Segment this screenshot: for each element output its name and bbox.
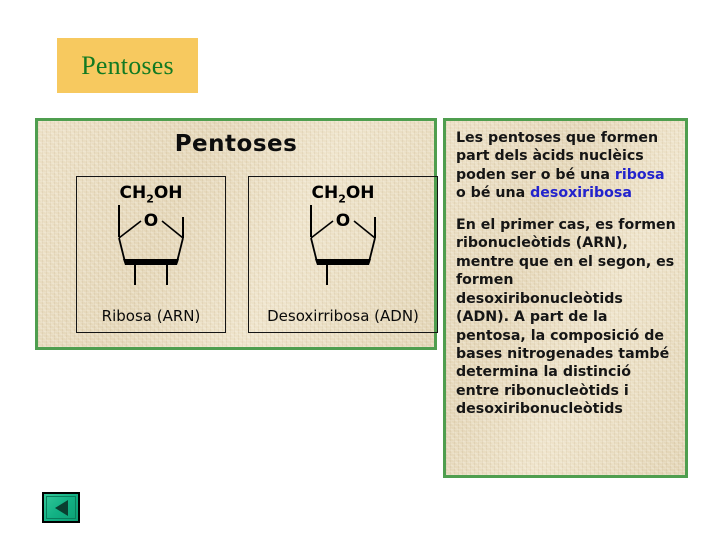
ribose-ring-oxygen-label: O xyxy=(144,211,158,231)
slide-title-banner: Pentoses xyxy=(57,38,198,93)
deoxyribose-ring-oxygen-label: O xyxy=(336,211,350,231)
explanation-panel: Les pentoses que formen part dels àcids … xyxy=(443,118,688,478)
ribose-formula-subscript: 2 xyxy=(146,192,154,205)
deoxyribose-formula-label: CH2OH xyxy=(249,183,437,205)
deoxyribose-formula-subscript: 2 xyxy=(338,192,346,205)
back-button[interactable] xyxy=(42,492,80,523)
deoxyribose-furanose-svg: O xyxy=(283,205,403,287)
pentose-structures-panel: Pentoses CH2OH O xyxy=(35,118,437,350)
deoxyribose-formula-suffix: OH xyxy=(346,183,375,203)
molecule-card-deoxyribose: CH2OH O Desoxirribosa (ADN) xyxy=(248,176,438,333)
structures-panel-heading: Pentoses xyxy=(38,131,434,157)
deoxyribose-name-label: Desoxirribosa (ADN) xyxy=(249,307,437,325)
deoxyribose-formula-prefix: CH xyxy=(311,183,338,203)
term-ribosa: ribosa xyxy=(615,167,665,183)
ribose-furanose-svg: O xyxy=(91,205,211,287)
back-arrow-icon xyxy=(55,500,68,516)
ribose-ring-diagram: O xyxy=(77,205,225,287)
explanation-paragraph-1: Les pentoses que formen part dels àcids … xyxy=(456,129,677,203)
explanation-paragraph-2: En el primer cas, es formen ribonucleòti… xyxy=(456,216,677,419)
term-desoxiribosa: desoxiribosa xyxy=(530,185,632,201)
page-title: Pentoses xyxy=(81,51,174,81)
paragraph-1-part-2: o bé una xyxy=(456,185,530,201)
ribose-formula-prefix: CH xyxy=(119,183,146,203)
ribose-name-label: Ribosa (ARN) xyxy=(77,307,225,325)
molecule-card-ribose: CH2OH O Ribos xyxy=(76,176,226,333)
deoxyribose-ring-diagram: O xyxy=(249,205,437,287)
back-button-inner xyxy=(46,496,76,519)
ribose-formula-suffix: OH xyxy=(154,183,183,203)
ribose-formula-label: CH2OH xyxy=(77,183,225,205)
